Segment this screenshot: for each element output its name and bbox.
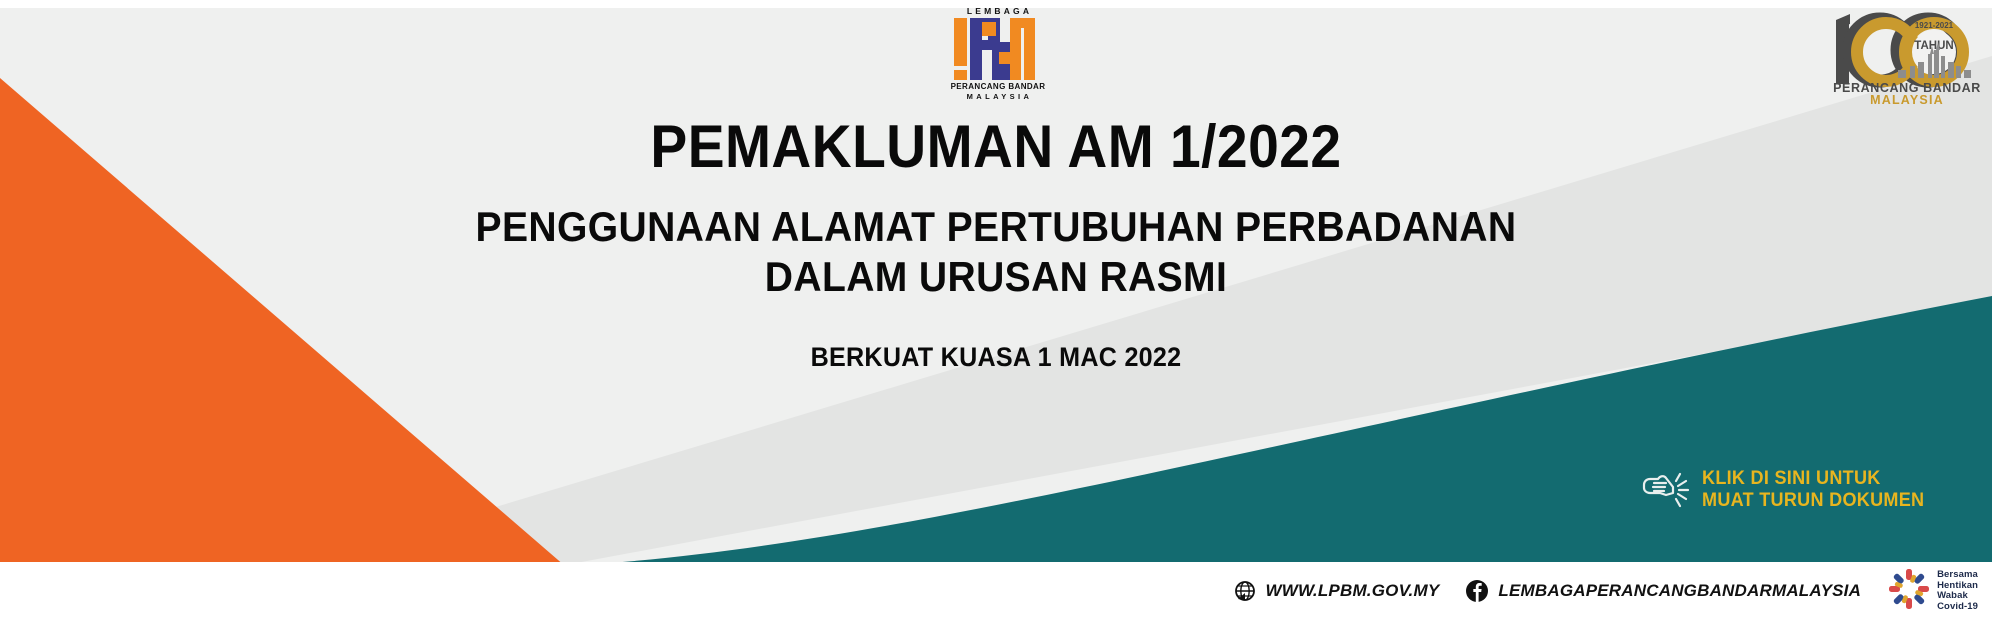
lpbm-logo-bottom-word-2: MALAYSIA [944, 92, 1052, 101]
lpbm-logo: LEMBAGA PERANCANG B [944, 6, 1052, 106]
centenary-logo: 1921-2021 TAHUN PERANCANG BANDAR MALAYSI… [1828, 2, 1986, 106]
facebook-label: LEMBAGAPERANCANGBANDARMALAYSIA [1498, 581, 1861, 601]
download-cta-line-2: MUAT TURUN DOKUMEN [1702, 490, 1924, 512]
footer: WWW.LPBM.GOV.MY LEMBAGAPERANCANGBANDARMA… [0, 562, 1992, 620]
announcement-title: PEMAKLUMAN AM 1/2022 [80, 112, 1913, 182]
download-document-button[interactable]: KLIK DI SINI UNTUK MUAT TURUN DOKUMEN [1640, 468, 1936, 512]
headline-block: PEMAKLUMAN AM 1/2022 PENGGUNAAN ALAMAT P… [0, 112, 1992, 373]
facebook-icon [1465, 579, 1489, 603]
centenary-years-text: 1921-2021 [1915, 21, 1954, 30]
covid-line-1: Bersama [1937, 570, 1978, 581]
lpbm-logo-top-word: LEMBAGA [944, 6, 1052, 16]
website-label: WWW.LPBM.GOV.MY [1265, 581, 1439, 601]
lpbm-logo-bottom-word-1: PERANCANG BANDAR [944, 82, 1052, 92]
website-link[interactable]: WWW.LPBM.GOV.MY [1234, 580, 1439, 602]
centenary-line2-text: MALAYSIA [1870, 93, 1944, 106]
covid-campaign-logo: Bersama Hentikan Wabak Covid-19 [1887, 567, 1978, 616]
facebook-link[interactable]: LEMBAGAPERANCANGBANDARMALAYSIA [1465, 579, 1861, 603]
globe-icon [1234, 580, 1256, 602]
lpbm-logo-mark [954, 18, 1042, 80]
announcement-banner: LEMBAGA PERANCANG B [0, 0, 1992, 620]
effective-date: BERKUAT KUASA 1 MAC 2022 [70, 342, 1923, 373]
download-cta-line-1: KLIK DI SINI UNTUK [1702, 468, 1924, 490]
announcement-subtitle-line-1: PENGGUNAAN ALAMAT PERTUBUHAN PERBADANAN [70, 202, 1923, 252]
pointing-hand-icon [1640, 469, 1692, 511]
covid-hands-icon [1887, 567, 1931, 616]
covid-line-3: Wabak [1937, 591, 1978, 602]
covid-line-4: Covid-19 [1937, 602, 1978, 613]
download-cta-text: KLIK DI SINI UNTUK MUAT TURUN DOKUMEN [1702, 468, 1924, 512]
announcement-subtitle-line-2: DALAM URUSAN RASMI [70, 252, 1923, 302]
covid-campaign-text: Bersama Hentikan Wabak Covid-19 [1937, 570, 1978, 612]
